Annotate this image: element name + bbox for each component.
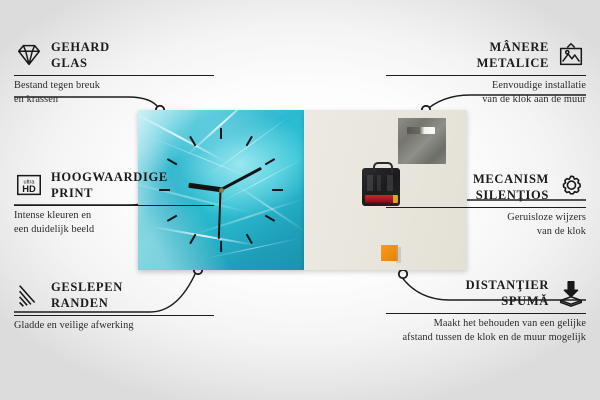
clock-tick	[246, 136, 253, 147]
feature-description: Bestand tegen breuk en krassen	[14, 79, 214, 107]
clock-tick	[220, 128, 222, 139]
feature-gehard-glas: GEHARD GLAS Bestand tegen breuk en krass…	[14, 38, 214, 107]
feature-header: DISTANŢIER SPUMĂ	[386, 276, 586, 310]
clock-minute-hand	[220, 167, 262, 192]
feature-mecanism-silentios: MECANISM SILENŢIOS Geruisloze wijzers va…	[386, 170, 586, 239]
feature-description: Maakt het behouden van een gelijke afsta…	[386, 317, 586, 345]
feature-header: GESLEPEN RANDEN	[14, 278, 214, 312]
gear-icon	[556, 172, 586, 202]
clock-tick	[272, 189, 283, 191]
feature-divider	[386, 207, 586, 208]
picture-frame-hanger-icon	[556, 40, 586, 70]
clock-tick	[265, 215, 276, 222]
metal-hanger-part	[398, 118, 446, 164]
feature-description: Gladde en veilige afwerking	[14, 319, 214, 333]
feature-header: ultra HD HOOGWAARDIGE PRINT	[14, 168, 214, 202]
foam-spacer-part	[381, 245, 398, 261]
feature-title: MECANISM SILENŢIOS	[473, 171, 549, 203]
clock-tick	[265, 158, 276, 165]
hd-label: HD	[22, 184, 36, 194]
infographic-canvas: GEHARD GLAS Bestand tegen breuk en krass…	[0, 0, 600, 400]
arrow-onto-pad-icon	[556, 278, 586, 308]
feature-divider	[14, 75, 214, 76]
feature-header: MECANISM SILENŢIOS	[386, 170, 586, 204]
clock-center-cap	[219, 188, 224, 193]
feature-hoogwaardige-print: ultra HD HOOGWAARDIGE PRINT Intense kleu…	[14, 168, 214, 237]
feature-description: Intense kleuren en een duidelijk beeld	[14, 209, 214, 237]
clock-tick	[220, 241, 222, 252]
clock-tick	[167, 158, 178, 165]
feature-divider	[14, 205, 214, 206]
feature-divider	[386, 313, 586, 314]
feature-distantier-spuma: DISTANŢIER SPUMĂ Maakt het behouden van …	[386, 276, 586, 345]
diamond-icon	[14, 40, 44, 70]
feature-manere-metalice: MÂNERE METALICE Eenvoudige installatie v…	[386, 38, 586, 107]
feature-title: HOOGWAARDIGE PRINT	[51, 169, 168, 201]
feature-header: GEHARD GLAS	[14, 38, 214, 72]
feature-header: MÂNERE METALICE	[386, 38, 586, 72]
clock-second-hand	[219, 190, 222, 239]
feature-title: DISTANŢIER SPUMĂ	[466, 277, 549, 309]
feature-title: MÂNERE METALICE	[477, 39, 549, 71]
clock-tick	[246, 234, 253, 245]
feature-description: Geruisloze wijzers van de klok	[386, 211, 586, 239]
feature-description: Eenvoudige installatie van de klok aan d…	[386, 79, 586, 107]
feature-geslepen-randen: GESLEPEN RANDEN Gladde en veilige afwerk…	[14, 278, 214, 333]
ultra-hd-icon: ultra HD	[14, 170, 44, 200]
hanger-keyhole-slot	[407, 127, 435, 134]
feature-title: GESLEPEN RANDEN	[51, 279, 123, 311]
feature-divider	[14, 315, 214, 316]
feature-title: GEHARD GLAS	[51, 39, 110, 71]
clock-tick	[189, 136, 196, 147]
feature-divider	[386, 75, 586, 76]
diagonal-lines-icon	[14, 280, 44, 310]
